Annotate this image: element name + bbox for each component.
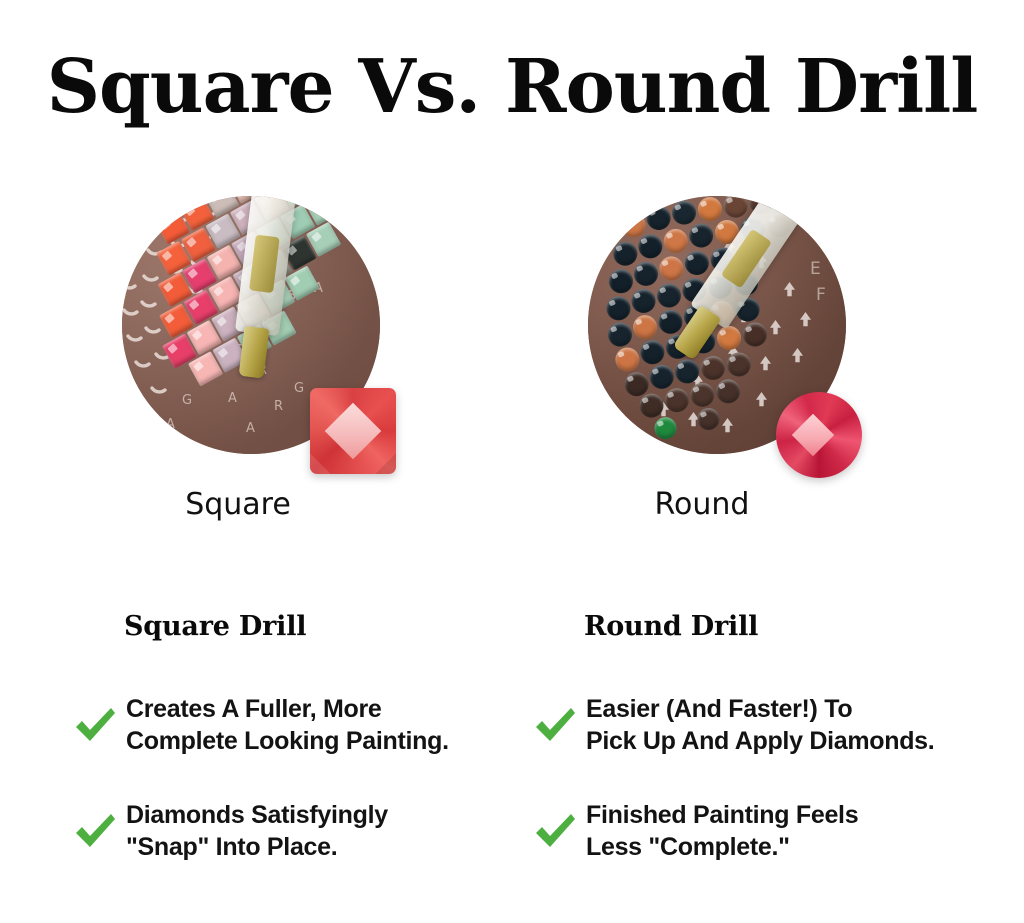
list-item: Creates A Fuller, More Complete Looking … bbox=[72, 692, 512, 758]
round-gem-icon bbox=[776, 392, 862, 478]
check-icon bbox=[532, 702, 578, 748]
list-item: Diamonds Satisfyingly "Snap" Into Place. bbox=[72, 798, 512, 864]
page-title: Square Vs. Round Drill bbox=[0, 46, 1024, 128]
check-icon bbox=[72, 808, 118, 854]
square-caption: Square bbox=[48, 487, 428, 523]
svg-text:A: A bbox=[166, 417, 175, 432]
svg-text:A: A bbox=[246, 421, 255, 436]
list-item-label: Diamonds Satisfyingly "Snap" Into Place. bbox=[126, 799, 388, 863]
list-item: Finished Painting Feels Less "Complete." bbox=[532, 798, 972, 864]
round-drill-heading: Round Drill bbox=[584, 610, 758, 644]
round-benefits-list: Easier (And Faster!) To Pick Up And Appl… bbox=[532, 692, 972, 904]
round-panel: E F bbox=[562, 196, 942, 526]
check-icon bbox=[72, 702, 118, 748]
svg-text:G: G bbox=[294, 381, 304, 396]
square-panel: 55 5A AG GR GG AR AA bbox=[96, 196, 476, 526]
list-item-label: Easier (And Faster!) To Pick Up And Appl… bbox=[586, 693, 934, 757]
round-caption: Round bbox=[512, 487, 892, 523]
svg-text:A: A bbox=[228, 391, 237, 406]
check-icon bbox=[532, 808, 578, 854]
square-benefits-list: Creates A Fuller, More Complete Looking … bbox=[72, 692, 512, 904]
list-item: Easier (And Faster!) To Pick Up And Appl… bbox=[532, 692, 972, 758]
svg-text:R: R bbox=[274, 399, 283, 414]
list-item-label: Creates A Fuller, More Complete Looking … bbox=[126, 693, 449, 757]
svg-text:G: G bbox=[182, 393, 192, 408]
square-drill-heading: Square Drill bbox=[124, 610, 306, 644]
svg-text:F: F bbox=[816, 285, 826, 305]
list-item-label: Finished Painting Feels Less "Complete." bbox=[586, 799, 858, 863]
square-gem-icon bbox=[310, 388, 396, 474]
svg-text:E: E bbox=[810, 259, 821, 279]
pen-wax bbox=[249, 235, 280, 294]
